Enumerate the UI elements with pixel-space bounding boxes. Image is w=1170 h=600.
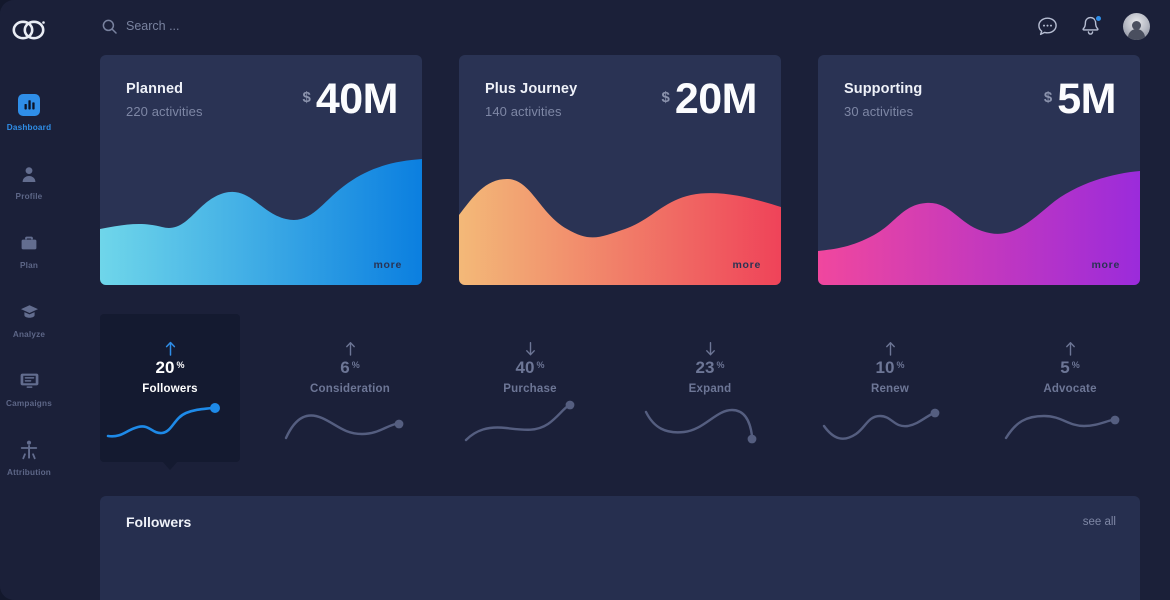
funnel-number: 5 — [1060, 358, 1069, 378]
funnel-label: Purchase — [503, 383, 556, 395]
sidebar-item-plan[interactable]: Plan — [0, 216, 58, 285]
avatar[interactable] — [1123, 13, 1150, 40]
currency-symbol: $ — [303, 89, 311, 106]
card-subtitle: 140 activities — [485, 104, 577, 119]
notification-badge — [1095, 15, 1102, 22]
funnel-unit: % — [716, 360, 724, 370]
bell-icon[interactable] — [1081, 16, 1100, 37]
summary-cards: Planned 220 activities $ 40M more — [100, 55, 1140, 285]
sidebar: Dashboard Profile Plan — [0, 0, 58, 600]
summary-card-supporting[interactable]: Supporting 30 activities $ 5M more — [818, 55, 1140, 285]
funnel-item-consideration[interactable]: 6 % Consideration — [280, 314, 420, 462]
topbar — [58, 0, 1170, 52]
funnel-item-renew[interactable]: 10 % Renew — [820, 314, 960, 462]
funnel-sparkline — [100, 396, 240, 446]
card-amount: $ 40M — [303, 78, 399, 121]
funnel-value: 10 % — [876, 358, 905, 378]
funnel-value: 6 % — [340, 358, 359, 378]
sidebar-item-attribution[interactable]: Attribution — [0, 423, 58, 492]
followers-panel: Followers see all — [100, 496, 1140, 600]
sidebar-item-profile[interactable]: Profile — [0, 147, 58, 216]
search-box[interactable] — [102, 19, 386, 34]
sidebar-item-label: Campaigns — [6, 399, 52, 408]
search-input[interactable] — [126, 19, 386, 33]
funnel-row: 20 % Followers 6 % Considera — [100, 314, 1140, 462]
funnel-unit: % — [1072, 360, 1080, 370]
bar-chart-icon — [18, 94, 40, 116]
card-amount: $ 20M — [662, 78, 758, 121]
funnel-value: 23 % — [696, 358, 725, 378]
funnel-number: 20 — [156, 358, 175, 378]
funnel-item-followers[interactable]: 20 % Followers — [100, 314, 240, 462]
funnel-sparkline — [460, 396, 600, 446]
funnel-item-expand[interactable]: 23 % Expand — [640, 314, 780, 462]
funnel-number: 40 — [516, 358, 535, 378]
funnel-gap — [600, 314, 640, 462]
card-title: Plus Journey — [485, 81, 577, 97]
funnel-label: Followers — [142, 383, 197, 395]
card-text-block: Supporting 30 activities — [844, 81, 922, 119]
app-root: Dashboard Profile Plan — [0, 0, 1170, 600]
amount-value: 40M — [316, 78, 398, 121]
funnel-label: Consideration — [310, 383, 390, 395]
currency-symbol: $ — [1044, 89, 1052, 106]
funnel-sparkline — [280, 396, 420, 446]
sidebar-item-label: Plan — [20, 261, 38, 270]
funnel-number: 23 — [696, 358, 715, 378]
topbar-actions — [1037, 13, 1150, 40]
currency-symbol: $ — [662, 89, 670, 106]
summary-card-planned[interactable]: Planned 220 activities $ 40M more — [100, 55, 422, 285]
funnel-unit: % — [352, 360, 360, 370]
sidebar-item-dashboard[interactable]: Dashboard — [0, 78, 58, 147]
sidebar-item-label: Dashboard — [7, 123, 52, 132]
funnel-gap — [420, 314, 460, 462]
funnel-sparkline — [640, 396, 780, 446]
funnel-value: 5 % — [1060, 358, 1079, 378]
funnel-unit: % — [896, 360, 904, 370]
funnel-number: 10 — [876, 358, 895, 378]
arrow-up-icon — [165, 340, 176, 356]
funnel-gap — [240, 314, 280, 462]
card-more-link[interactable]: more — [374, 259, 402, 271]
sidebar-item-label: Profile — [16, 192, 43, 201]
card-more-link[interactable]: more — [1092, 259, 1120, 271]
summary-card-plus-journey[interactable]: Plus Journey 140 activities $ 20M more — [459, 55, 781, 285]
card-header: Supporting 30 activities $ 5M — [818, 55, 1140, 121]
arrow-up-icon — [345, 340, 356, 356]
funnel-value: 40 % — [516, 358, 545, 378]
card-header: Planned 220 activities $ 40M — [100, 55, 422, 121]
funnel-sparkline — [1000, 396, 1140, 446]
amount-value: 5M — [1057, 78, 1116, 121]
sidebar-item-analyze[interactable]: Analyze — [0, 285, 58, 354]
briefcase-icon — [18, 232, 40, 254]
funnel-label: Advocate — [1043, 383, 1096, 395]
user-icon — [18, 163, 40, 185]
arrow-up-icon — [885, 340, 896, 356]
card-title: Supporting — [844, 81, 922, 97]
see-all-link[interactable]: see all — [1083, 516, 1116, 528]
amount-value: 20M — [675, 78, 757, 121]
arrow-up-icon — [1065, 340, 1076, 356]
funnel-label: Renew — [871, 383, 909, 395]
card-title: Planned — [126, 81, 203, 97]
monitor-list-icon — [18, 370, 40, 392]
arrow-down-icon — [525, 340, 536, 356]
funnel-unit: % — [176, 360, 184, 370]
search-icon — [102, 19, 117, 34]
funnel-gap — [960, 314, 1000, 462]
arrow-down-icon — [705, 340, 716, 356]
funnel-label: Expand — [689, 383, 732, 395]
card-text-block: Plus Journey 140 activities — [485, 81, 577, 119]
card-subtitle: 30 activities — [844, 104, 922, 119]
card-subtitle: 220 activities — [126, 104, 203, 119]
sidebar-item-label: Analyze — [13, 330, 45, 339]
app-logo[interactable] — [0, 4, 58, 56]
card-header: Plus Journey 140 activities $ 20M — [459, 55, 781, 121]
funnel-item-advocate[interactable]: 5 % Advocate — [1000, 314, 1140, 462]
sidebar-item-label: Attribution — [7, 468, 51, 477]
funnel-number: 6 — [340, 358, 349, 378]
card-text-block: Planned 220 activities — [126, 81, 203, 119]
graduation-cap-icon — [18, 301, 40, 323]
sidebar-item-campaigns[interactable]: Campaigns — [0, 354, 58, 423]
card-amount: $ 5M — [1044, 78, 1116, 121]
funnel-sparkline — [820, 396, 960, 446]
person-arms-icon — [18, 439, 40, 461]
followers-rings — [100, 552, 1140, 600]
funnel-unit: % — [536, 360, 544, 370]
panel-header: Followers see all — [100, 496, 1140, 530]
panel-title: Followers — [126, 514, 191, 530]
card-more-link[interactable]: more — [733, 259, 761, 271]
funnel-value: 20 % — [156, 358, 185, 378]
avatar-image — [1123, 13, 1150, 40]
funnel-item-purchase[interactable]: 40 % Purchase — [460, 314, 600, 462]
funnel-gap — [780, 314, 820, 462]
chat-bubble-icon[interactable] — [1037, 16, 1058, 37]
active-pointer — [162, 461, 178, 470]
sidebar-nav: Dashboard Profile Plan — [0, 78, 58, 492]
